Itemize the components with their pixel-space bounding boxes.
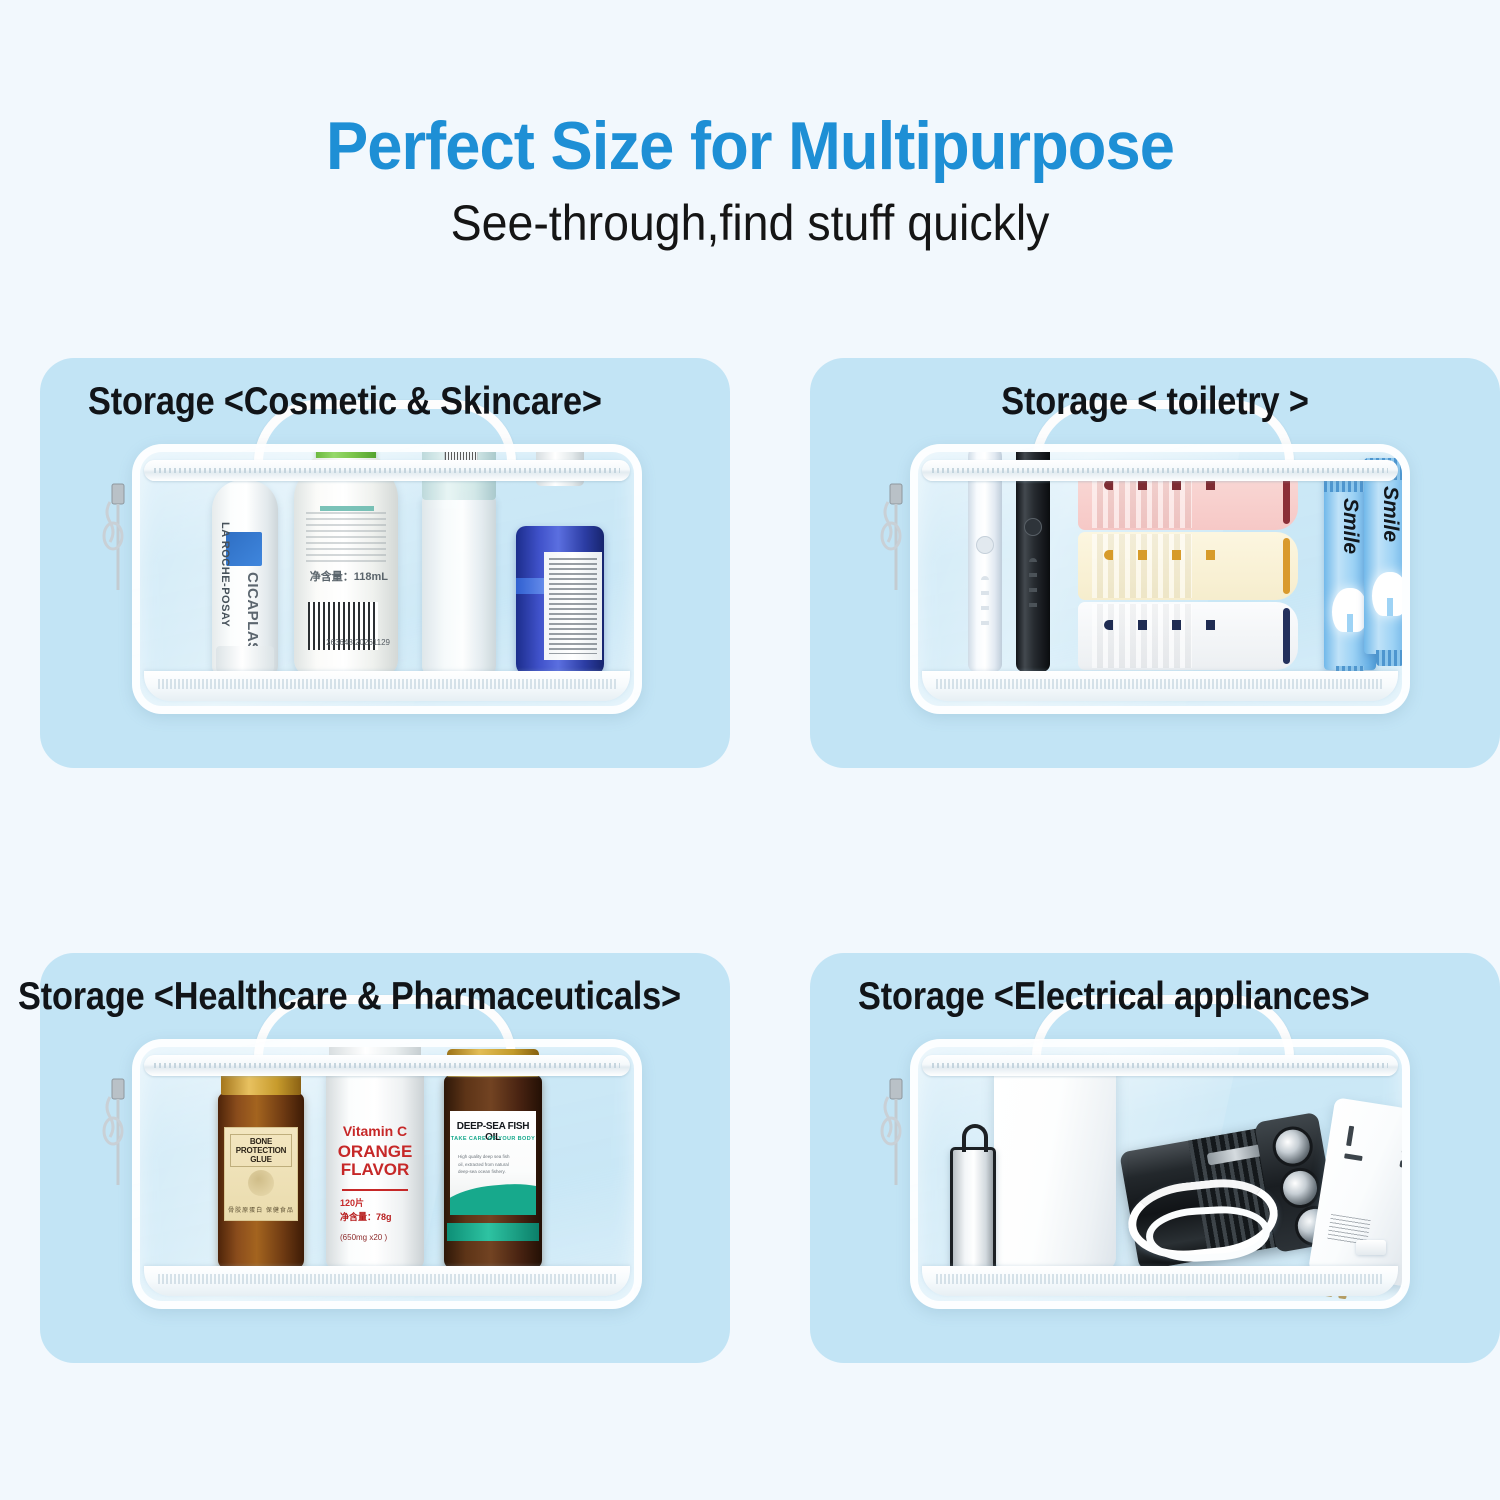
lotion-label-accent xyxy=(320,506,374,511)
clear-storage-bag: Smile Smile xyxy=(910,444,1410,714)
panel-toiletry: Smile Smile xyxy=(810,358,1500,768)
towel-dots xyxy=(1104,550,1224,560)
vitamin-c-flavor-word: ORANGE xyxy=(326,1143,424,1161)
usb-keyring-loop xyxy=(962,1124,988,1152)
fabric-base-trim xyxy=(922,671,1398,701)
bottle-title: BONE PROTECTION GLUE xyxy=(230,1134,292,1167)
bag-contents: Smile Smile xyxy=(932,486,1388,676)
bag-contents: LA ROCHE-POSAY CICAPLAST 净含量：118mL 26364… xyxy=(154,486,620,676)
lotion-label-text xyxy=(306,512,386,564)
panel-label-toiletry: Storage < toiletry > xyxy=(1001,380,1308,424)
panel-label-electrical: Storage <Electrical appliances> xyxy=(858,975,1370,1019)
lot-number: 263648 20261129 xyxy=(326,638,390,648)
toothpaste-brand: Smile xyxy=(1378,486,1402,542)
bag-body: LA ROCHE-POSAY CICAPLAST 净含量：118mL 26364… xyxy=(132,444,642,714)
towel-cream xyxy=(1078,532,1298,600)
bag-contents xyxy=(932,1081,1388,1271)
clear-storage-bag: BONE PROTECTION GLUE 骨胶原蛋白 保健食品 Vitamin … xyxy=(132,1039,642,1309)
serum-label xyxy=(544,552,602,660)
fish-oil-bottle: DEEP-SEA FISH OIL TAKE CARE OF YOUR BODY… xyxy=(444,1075,542,1269)
fabric-base-trim xyxy=(922,1266,1398,1296)
clear-storage-bag xyxy=(910,1039,1410,1309)
tooth-icon xyxy=(1332,588,1368,632)
tooth-icon xyxy=(1372,572,1408,616)
fish-oil-tagline: TAKE CARE OF YOUR BODY xyxy=(450,1136,536,1142)
folded-towel-stack xyxy=(1078,458,1298,674)
header: Perfect Size for Multipurpose See-throug… xyxy=(0,0,1500,248)
panel-label-healthcare: Storage <Healthcare & Pharmaceuticals> xyxy=(18,975,681,1019)
towel-texture xyxy=(1092,534,1192,598)
serum-bottle xyxy=(516,526,604,676)
toothpaste-tube-2: Smile xyxy=(1364,458,1410,654)
mode-indicator-dots xyxy=(981,576,989,636)
towel-dots xyxy=(1104,620,1224,630)
zipper-pull-icon xyxy=(98,478,138,594)
towel-edge-band xyxy=(1283,608,1290,664)
zipper-track xyxy=(144,460,630,481)
panel-cosmetic-skincare: LA ROCHE-POSAY CICAPLAST 净含量：118mL 26364… xyxy=(40,358,730,768)
serum-blue-ring xyxy=(528,444,592,447)
bottle-label: BONE PROTECTION GLUE 骨胶原蛋白 保健食品 xyxy=(224,1127,298,1221)
vitamin-c-dose: (650mg x20 ) xyxy=(340,1233,387,1242)
bag-body: Smile Smile xyxy=(910,444,1410,714)
label-rule xyxy=(342,1189,408,1191)
toner-bottle xyxy=(422,494,496,676)
bottle-label: DEEP-SEA FISH OIL TAKE CARE OF YOUR BODY… xyxy=(450,1111,536,1215)
fish-oil-green-band xyxy=(447,1223,539,1241)
lotion-volume: 净含量：118mL xyxy=(310,568,388,584)
ac-socket-icon xyxy=(1340,1125,1392,1176)
mode-indicator-dots xyxy=(1029,558,1037,618)
page-subtitle: See-through,find stuff quickly xyxy=(53,198,1448,248)
zipper-track xyxy=(922,1055,1398,1076)
page-title: Perfect Size for Multipurpose xyxy=(53,112,1448,180)
vitamin-c-count-value: 120片 xyxy=(340,1197,392,1211)
usb-ports-icon xyxy=(1398,1132,1410,1182)
panel-healthcare-pharmaceuticals: BONE PROTECTION GLUE 骨胶原蛋白 保健食品 Vitamin … xyxy=(40,953,730,1363)
cream-tube-brand: LA ROCHE-POSAY xyxy=(219,522,231,627)
lotion-bottle: 净含量：118mL 263648 20261129 xyxy=(294,464,398,676)
zipper-pull-icon xyxy=(98,1073,138,1189)
usb-flash-drive xyxy=(950,1147,996,1271)
vitamin-c-weight: 净含量：78g xyxy=(340,1211,392,1225)
travel-power-strip xyxy=(1308,1097,1410,1289)
bottle-subtitle: 骨胶原蛋白 保健食品 xyxy=(225,1205,297,1214)
power-button-icon xyxy=(976,536,994,554)
vitamin-c-line2: ORANGE FLAVOR xyxy=(326,1143,424,1178)
vitamin-c-line1: Vitamin C xyxy=(326,1123,424,1139)
fabric-base-trim xyxy=(144,671,630,701)
power-bank xyxy=(994,1059,1116,1271)
panel-grid: LA ROCHE-POSAY CICAPLAST 净含量：118mL 26364… xyxy=(0,358,1500,1363)
usb-connector-tip xyxy=(1356,1240,1386,1255)
bag-body xyxy=(910,1039,1410,1309)
zipper-pull-icon xyxy=(876,478,916,594)
fabric-base-trim xyxy=(144,1266,630,1296)
fish-oil-body: High quality deep sea fish oil, extracte… xyxy=(458,1153,510,1176)
tube-blue-block xyxy=(226,532,262,566)
vitamin-c-count: 120片 净含量：78g xyxy=(340,1197,392,1224)
amber-supplement-bottle: BONE PROTECTION GLUE 骨胶原蛋白 保健食品 xyxy=(218,1093,304,1269)
power-button-icon xyxy=(1024,518,1042,536)
towel-edge-band xyxy=(1283,538,1290,594)
vitamin-c-flavor-word2: FLAVOR xyxy=(326,1161,424,1179)
zipper-track xyxy=(144,1055,630,1076)
zipper-track xyxy=(922,460,1398,481)
panel-label-cosmetic: Storage <Cosmetic & Skincare> xyxy=(88,380,602,424)
towel-white xyxy=(1078,602,1298,670)
cream-tube: LA ROCHE-POSAY CICAPLAST xyxy=(212,480,278,676)
tube-cap xyxy=(1376,650,1404,666)
bag-body: BONE PROTECTION GLUE 骨胶原蛋白 保健食品 Vitamin … xyxy=(132,1039,642,1309)
zipper-pull-icon xyxy=(876,1073,916,1189)
vitamin-c-bottle: Vitamin C ORANGE FLAVOR 120片 净含量：78g (65… xyxy=(326,1069,424,1269)
clear-storage-bag: LA ROCHE-POSAY CICAPLAST 净含量：118mL 26364… xyxy=(132,444,642,714)
toothpaste-brand: Smile xyxy=(1338,498,1362,554)
bottle-emblem-icon xyxy=(248,1170,274,1196)
panel-electrical-appliances: Storage <Electrical appliances> xyxy=(810,953,1500,1363)
towel-texture xyxy=(1092,604,1192,668)
bag-contents: BONE PROTECTION GLUE 骨胶原蛋白 保健食品 Vitamin … xyxy=(154,1081,620,1271)
towel-dots xyxy=(1104,480,1224,490)
